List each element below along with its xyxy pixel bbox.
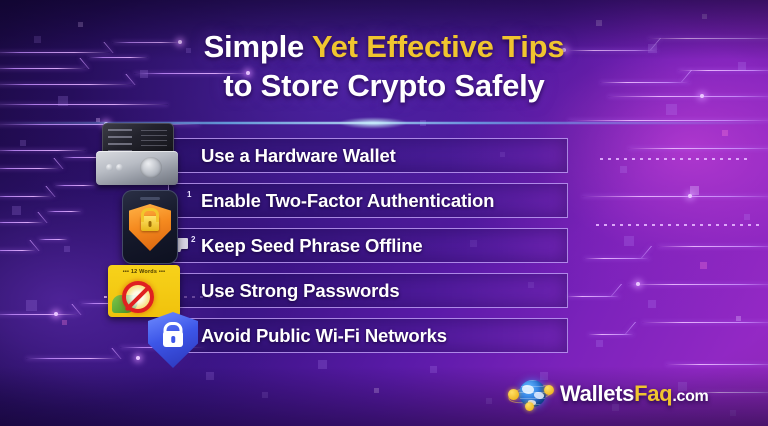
orbit-dot (508, 389, 519, 400)
tip-label: Use Strong Passwords (169, 280, 400, 302)
logo-name-accent: Faq (634, 381, 672, 406)
hardware-wallet-device-icon (96, 123, 178, 185)
tip-label: Keep Seed Phrase Offline (169, 235, 423, 257)
device-screen (102, 123, 174, 156)
tip-row-hardware-wallet[interactable]: Use a Hardware Wallet (168, 138, 568, 173)
site-logo[interactable]: WalletsFaq.com (508, 377, 708, 411)
device-button (116, 164, 123, 171)
title-text-highlight: Yet Effective Tips (312, 29, 565, 64)
logo-tld: .com (672, 388, 708, 405)
device-knob (140, 157, 162, 178)
orbit-dot (525, 402, 534, 411)
padlock-icon (141, 216, 159, 231)
globe-icon (508, 377, 554, 411)
light-streak (0, 122, 768, 124)
page-title-line2: to Store Crypto Safely (0, 68, 768, 104)
tips-list: Use a Hardware Wallet 1 Enable Two-Facto… (168, 138, 568, 363)
seed-card-text: ••• 12 Words ••• (112, 269, 176, 275)
orbit-dot (544, 385, 554, 395)
prohibition-sign-icon (122, 281, 154, 313)
device-body (96, 151, 178, 185)
tip-label: Use a Hardware Wallet (169, 145, 396, 167)
tip-marker-box-icon (175, 238, 188, 249)
tip-marker-2: 2 (191, 236, 195, 244)
tip-label: Avoid Public Wi-Fi Networks (169, 325, 447, 347)
infographic-canvas: Simple Yet Effective Tips to Store Crypt… (0, 0, 768, 426)
logo-wordmark: WalletsFaq.com (560, 383, 708, 405)
tip-row-public-wifi[interactable]: Avoid Public Wi-Fi Networks (168, 318, 568, 353)
leaf-shape (112, 295, 138, 313)
device-button (106, 164, 113, 171)
tip-row-two-factor[interactable]: 1 Enable Two-Factor Authentication (168, 183, 568, 218)
orange-shield-icon (129, 204, 171, 251)
logo-name-primary: Wallets (560, 381, 634, 406)
page-title-line1: Simple Yet Effective Tips (0, 29, 768, 65)
title-text-plain: Simple (204, 29, 312, 64)
tip-row-strong-passwords[interactable]: Use Strong Passwords (168, 273, 568, 308)
tip-marker-1: 1 (187, 191, 191, 199)
tip-label: Enable Two-Factor Authentication (169, 190, 494, 212)
tip-row-seed-phrase[interactable]: 2 Keep Seed Phrase Offline (168, 228, 568, 263)
